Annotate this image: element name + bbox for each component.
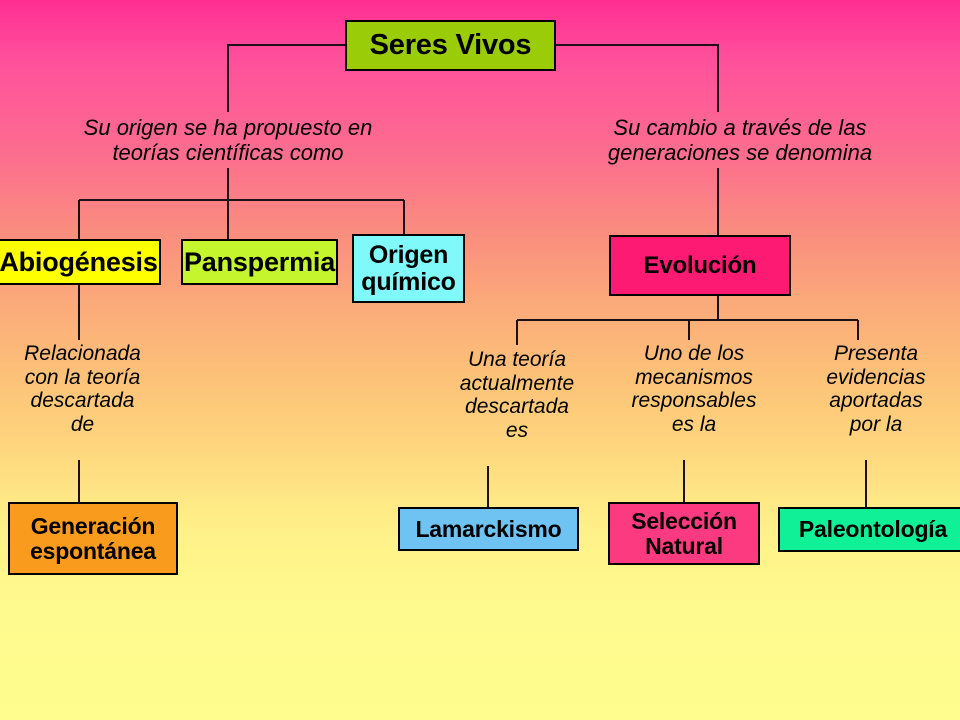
- link-label-origen-propuesto: Su origen se ha propuesto en teorías cie…: [28, 116, 428, 165]
- link-label-relacionada-teoria: Relacionada con la teoría descartada de: [0, 342, 165, 436]
- node-evolucion[interactable]: Evolución: [609, 235, 791, 296]
- node-lamarckismo[interactable]: Lamarckismo: [398, 507, 579, 551]
- wire-root-to-right-label: [556, 45, 718, 112]
- concept-map-canvas: Seres Vivos Abiogénesis Panspermia Orige…: [0, 0, 960, 720]
- link-label-evidencias-aportadas: Presenta evidencias aportadas por la: [796, 342, 956, 436]
- link-label-cambio-generaciones: Su cambio a través de las generaciones s…: [540, 116, 940, 165]
- node-generacion-espontanea[interactable]: Generación espontánea: [8, 502, 178, 575]
- node-abiogenesis[interactable]: Abiogénesis: [0, 239, 161, 285]
- node-seres-vivos[interactable]: Seres Vivos: [345, 20, 556, 71]
- node-panspermia[interactable]: Panspermia: [181, 239, 338, 285]
- link-label-mecanismos-responsables: Uno de los mecanismos responsables es la: [610, 342, 778, 436]
- node-paleontologia[interactable]: Paleontología: [778, 507, 960, 552]
- wire-root-to-left-label: [228, 45, 345, 112]
- node-seleccion-natural[interactable]: Selección Natural: [608, 502, 760, 565]
- link-label-teoria-descartada: Una teoría actualmente descartada es: [437, 348, 597, 442]
- node-origen-quimico[interactable]: Origen químico: [352, 234, 465, 303]
